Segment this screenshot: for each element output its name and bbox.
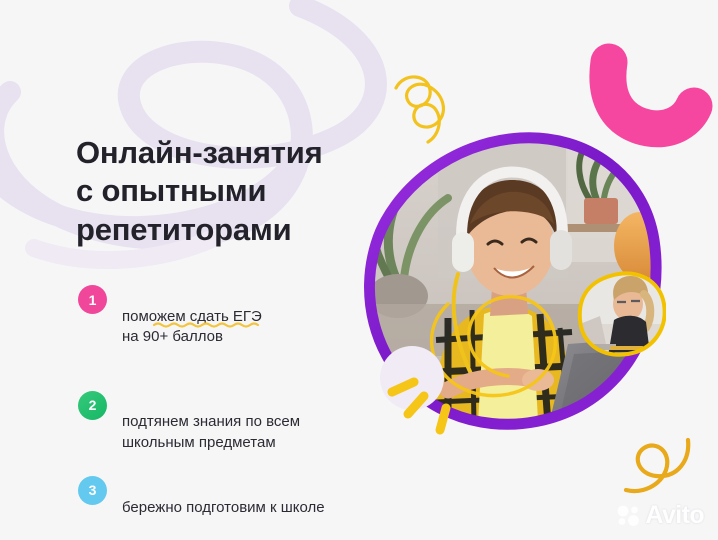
promo-poster: Онлайн-занятия с опытными репетиторами 1… bbox=[0, 0, 718, 540]
student-photo bbox=[352, 128, 666, 438]
page-title: Онлайн-занятия с опытными репетиторами bbox=[76, 134, 376, 249]
list-item: 1 поможем сдать ЕГЭ на 90+ баллов bbox=[78, 284, 398, 369]
benefit-label: подтянем знания по всем школьным предмет… bbox=[122, 413, 300, 451]
benefit-number-badge: 2 bbox=[78, 391, 107, 420]
benefit-text: поможем сдать ЕГЭ на 90+ баллов bbox=[122, 284, 262, 369]
benefits-list: 1 поможем сдать ЕГЭ на 90+ баллов 2 подт… bbox=[78, 284, 398, 518]
benefit-text: бережно подготовим к школе bbox=[122, 475, 325, 518]
benefit-label: бережно подготовим к школе bbox=[122, 499, 325, 516]
avito-watermark: Avito bbox=[616, 501, 704, 530]
list-item: 3 бережно подготовим к школе bbox=[78, 475, 398, 518]
avito-dots-icon bbox=[616, 505, 642, 527]
list-item: 2 подтянем знания по всем школьным предм… bbox=[78, 390, 398, 454]
wavy-underline-icon bbox=[153, 321, 260, 328]
benefit-text: подтянем знания по всем школьным предмет… bbox=[122, 390, 300, 454]
benefit-number-badge: 3 bbox=[78, 476, 107, 505]
avito-wordmark: Avito bbox=[645, 501, 704, 530]
benefit-number-badge: 1 bbox=[78, 285, 107, 314]
